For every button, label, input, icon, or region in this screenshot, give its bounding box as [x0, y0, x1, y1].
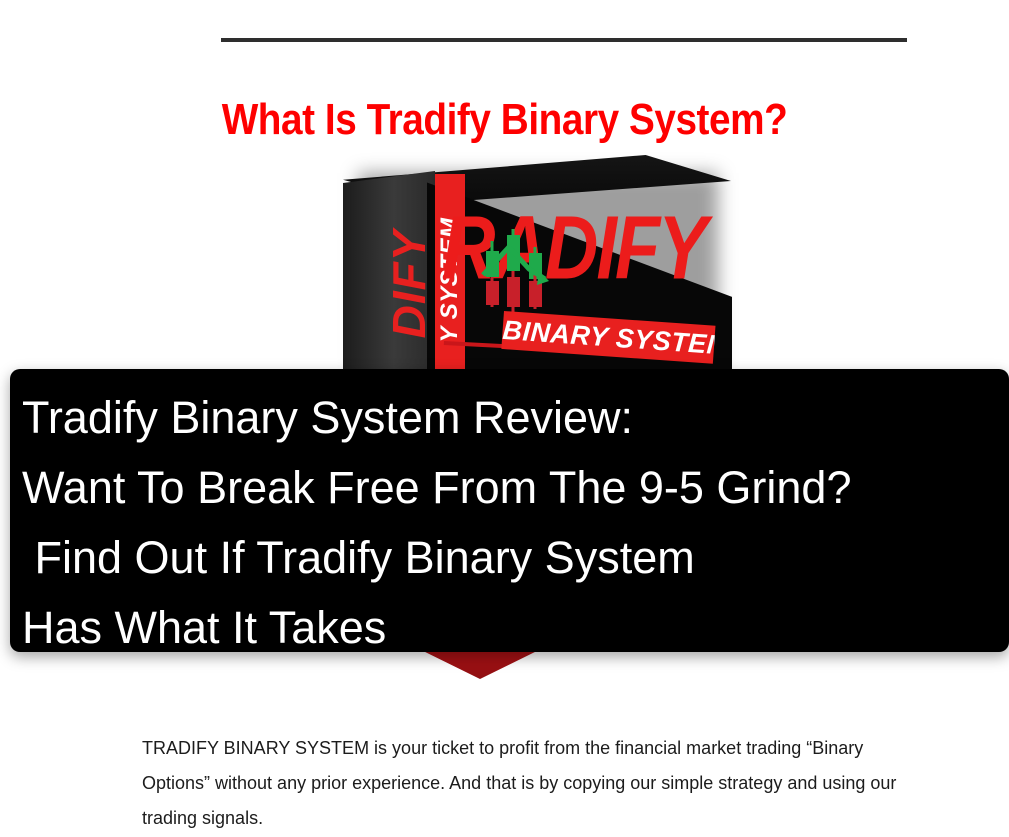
review-page: What Is Tradify Binary System? DIFY Y SY…: [0, 0, 1009, 837]
headline-line-2: Want To Break Free From The 9-5 Grind?: [10, 453, 1009, 523]
product-box-front-banner: BINARY SYSTEM: [501, 311, 715, 364]
body-paragraph: TRADIFY BINARY SYSTEM is your ticket to …: [142, 731, 917, 836]
headline-line-3: Find Out If Tradify Binary System: [10, 523, 1009, 593]
headline-overlay: Tradify Binary System Review: Want To Br…: [10, 369, 1009, 652]
headline-line-4: Has What It Takes: [10, 593, 1009, 652]
section-divider-rule: [221, 38, 907, 42]
headline-line-1: Tradify Binary System Review:: [10, 383, 1009, 453]
page-title: What Is Tradify Binary System?: [61, 97, 949, 143]
candlestick-chart-icon: [479, 225, 553, 313]
product-box-spine-title: DIFY: [382, 169, 436, 399]
product-box-front-banner-label: BINARY SYSTEM: [501, 311, 715, 364]
